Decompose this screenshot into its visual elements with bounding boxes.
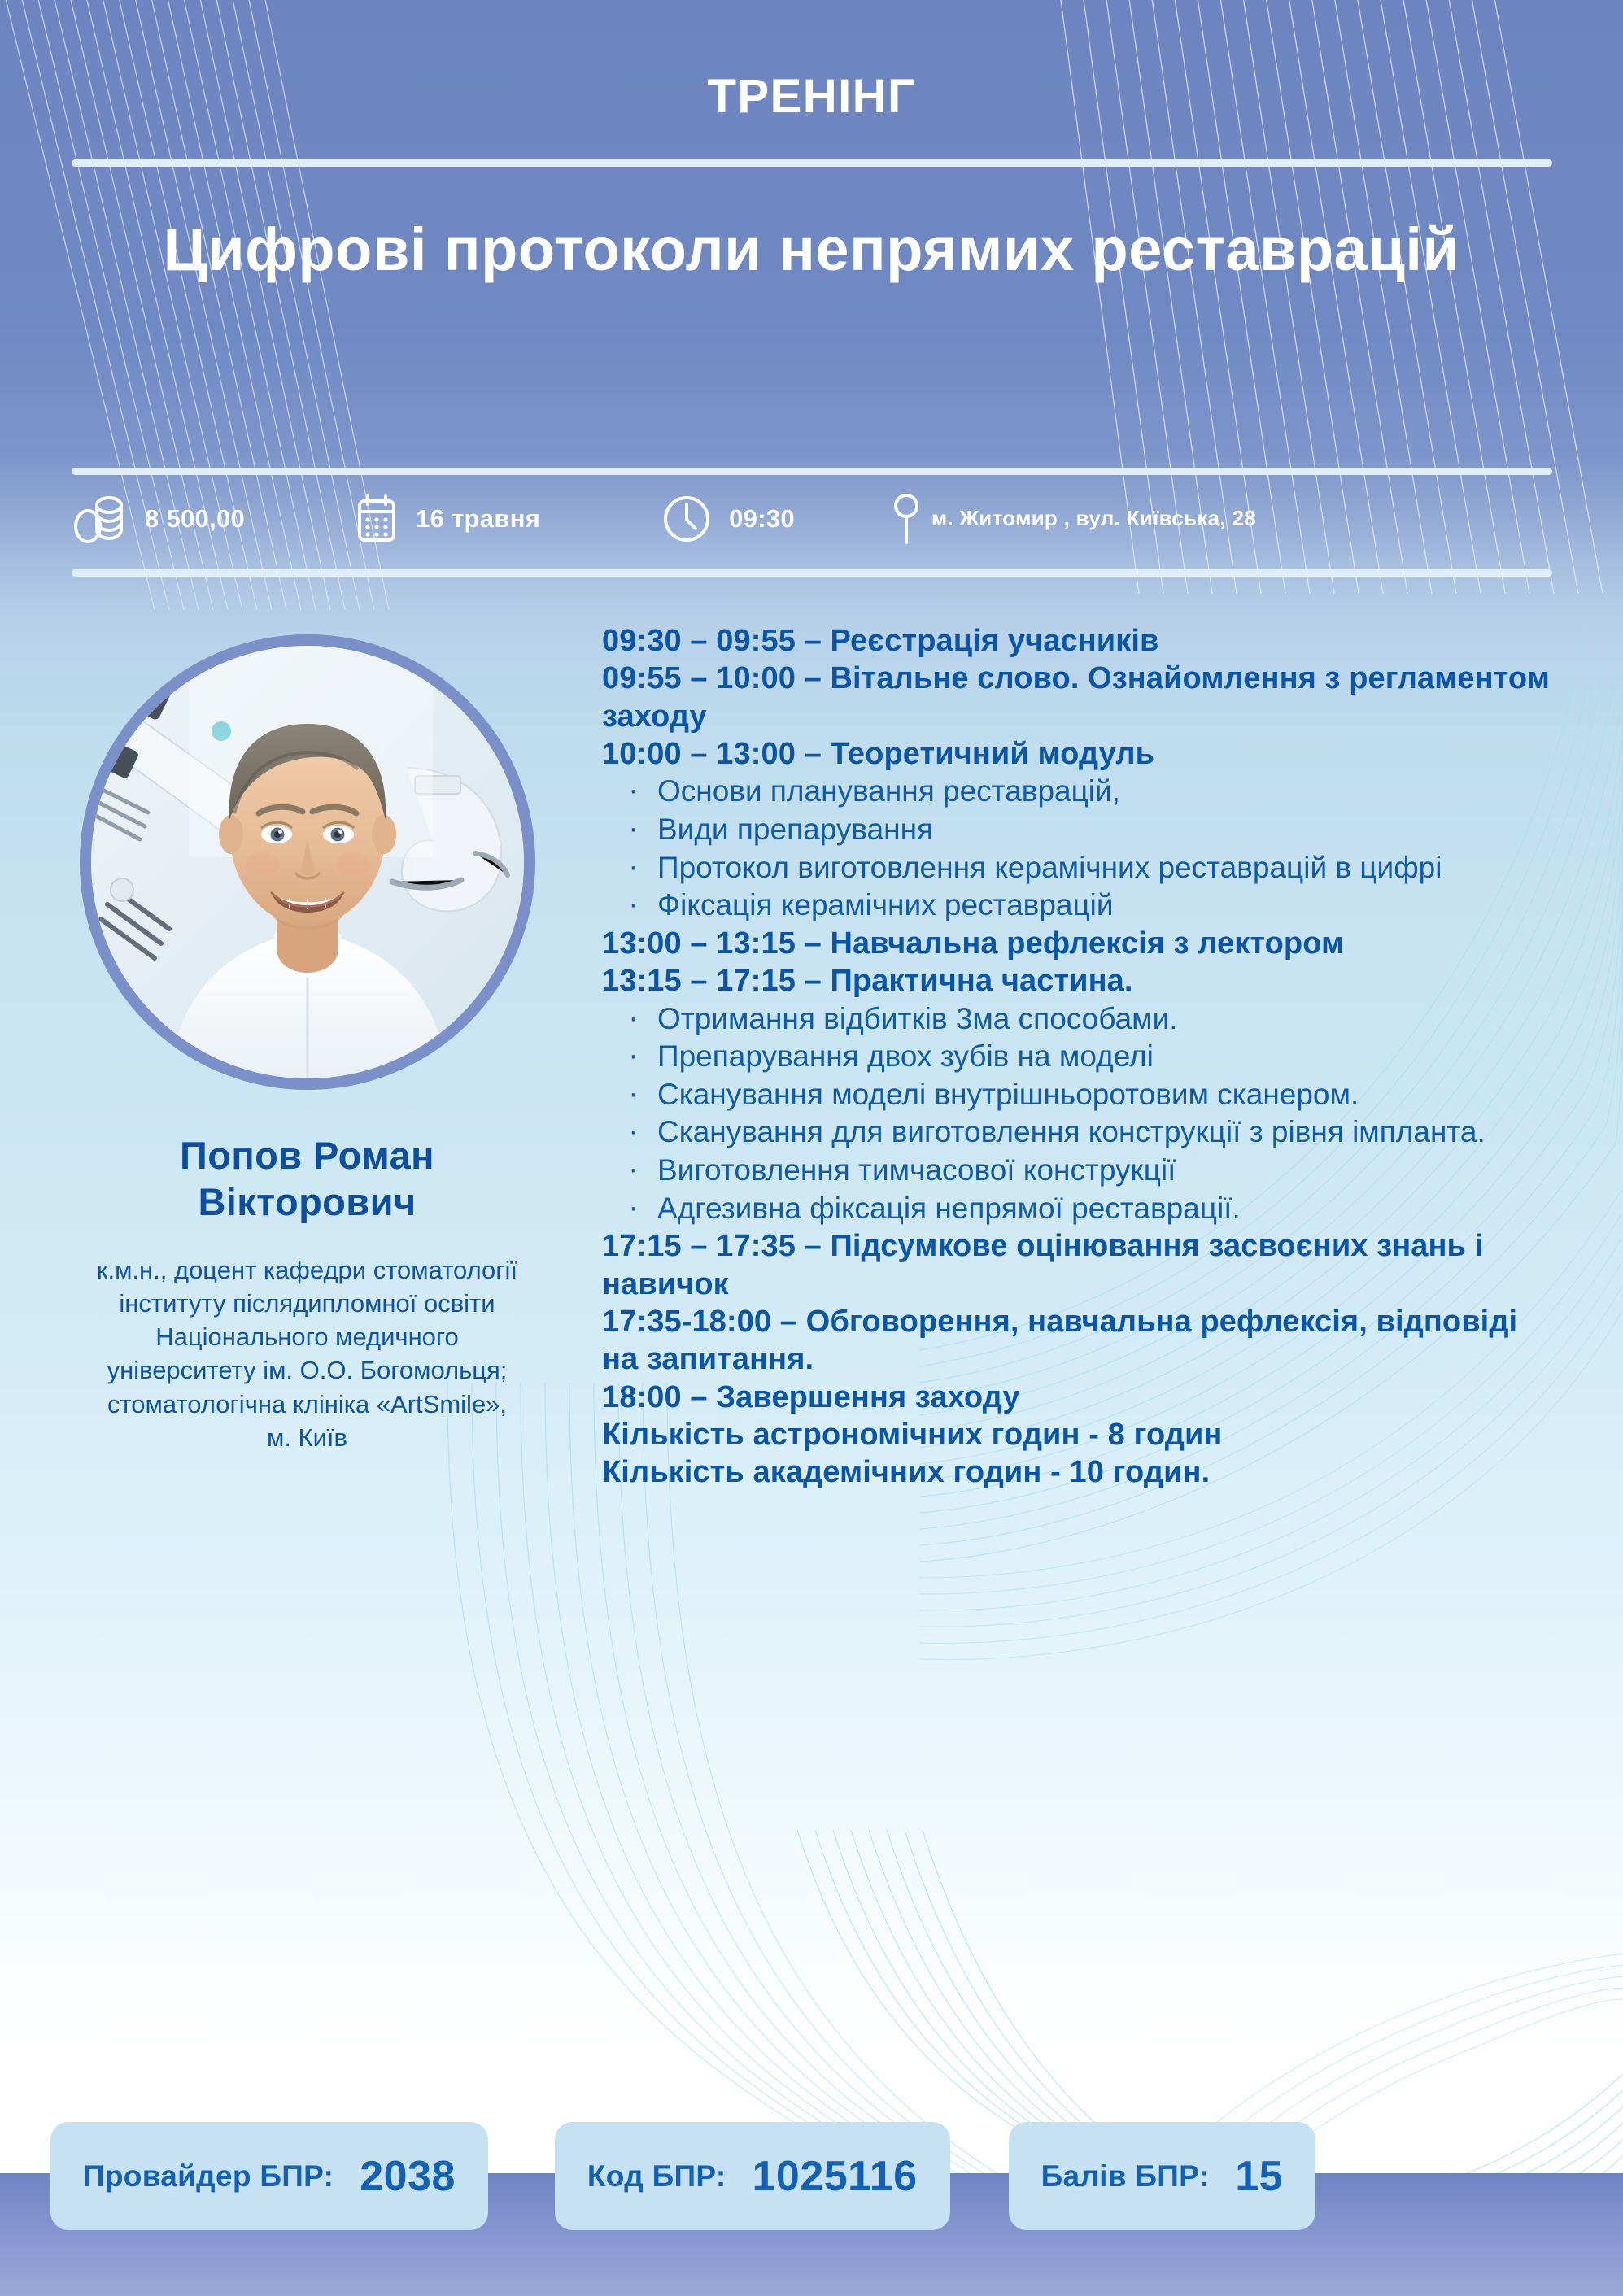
divider-rule-bottom [72,569,1552,577]
program-heading: 13:15 – 17:15 – Практична частина. [602,962,1550,1000]
program-heading: 10:00 – 13:00 – Теоретичний модуль [602,735,1550,773]
program-bullet-list: Отримання відбитків 3ма способами.Препар… [622,1000,1550,1228]
program-heading: 18:00 – Завершення заходу [602,1379,1550,1416]
info-place: м. Житомир , вул. Київська, 28 [892,492,1256,546]
info-date: 16 травня [356,494,540,544]
badge-code-label: Код БПР: [587,2159,726,2194]
page-title: Цифрові протоколи непрямих реставрацій [0,167,1623,284]
list-item: Види препарування [622,811,1550,849]
badge-points-label: Балів БПР: [1041,2159,1210,2194]
info-time-value: 09:30 [729,504,795,534]
clock-icon [662,494,711,543]
info-date-value: 16 травня [416,504,540,534]
program-column: 09:30 – 09:55 – Реєстрація учасників09:5… [569,586,1623,1492]
list-item: Препарування двох зубів на моделі [622,1038,1550,1076]
list-item: Сканування для виготовлення конструкції … [622,1113,1550,1152]
badge-provider-value: 2038 [360,2152,456,2201]
speaker-name: Попов Роман Вікторович [45,1132,569,1226]
event-info-strip: 8 500,00 16 травня [0,480,1623,557]
speaker-column: Попов Роман Вікторович к.м.н., доцент ка… [0,586,569,1454]
program-heading: 13:00 – 13:15 – Навчальна рефлексія з ле… [602,925,1550,962]
header: ТРЕНІНГ Цифрові протоколи непрямих реста… [0,0,1623,284]
list-item: Адгезивна фіксація непрямої реставрації. [622,1190,1550,1228]
info-time: 09:30 [662,494,795,543]
status-badge-provider: Провайдер БПР: 2038 [50,2122,488,2230]
info-price: 8 500,00 [72,494,245,544]
poster-canvas: ТРЕНІНГ Цифрові протоколи непрямих реста… [0,0,1623,2296]
calendar-icon [356,494,398,544]
program-heading: 09:55 – 10:00 – Вітальне слово. Ознайомл… [602,660,1550,735]
coins-icon [72,494,127,544]
list-item: Виготовлення тимчасової конструкції [622,1152,1550,1190]
program-bullet-list: Основи планування реставрацій,Види препа… [622,773,1550,924]
list-item: Сканування моделі внутрішньоротовим скан… [622,1076,1550,1114]
list-item: Основи планування реставрацій, [622,773,1550,811]
footer-badges: Провайдер БПР: 2038 Код БПР: 1025116 Бал… [0,2121,1623,2231]
avatar [80,634,535,1090]
program-heading: Кількість астрономічних годин - 8 годин [602,1416,1550,1453]
list-item: Отримання відбитків 3ма способами. [622,1000,1550,1039]
divider-rule-top [72,159,1552,167]
location-pin-icon [892,492,920,546]
info-price-value: 8 500,00 [145,504,245,534]
badge-points-value: 15 [1235,2152,1283,2201]
speaker-bio: к.м.н., доцент кафедри стоматології інст… [45,1253,569,1454]
main-content: Попов Роман Вікторович к.м.н., доцент ка… [0,586,1623,1492]
speaker-photo [91,646,524,1078]
status-badge-points: Балів БПР: 15 [1009,2122,1316,2230]
list-item: Фіксація керамічних реставрацій [622,887,1550,925]
info-place-value: м. Житомир , вул. Київська, 28 [931,506,1256,531]
event-type-label: ТРЕНІНГ [0,73,1623,120]
status-badge-code: Код БПР: 1025116 [555,2122,950,2230]
program-heading: 17:35-18:00 – Обговорення, навчальна реф… [602,1303,1550,1379]
badge-code-value: 1025116 [752,2152,917,2201]
program-heading: Кількість академічних годин - 10 годин. [602,1453,1550,1491]
list-item: Протокол виготовлення керамічних реставр… [622,849,1550,887]
divider-rule-middle [72,468,1552,475]
program-heading: 17:15 – 17:35 – Підсумкове оцінювання за… [602,1227,1550,1303]
program-heading: 09:30 – 09:55 – Реєстрація учасників [602,622,1550,660]
badge-provider-label: Провайдер БПР: [83,2159,334,2194]
